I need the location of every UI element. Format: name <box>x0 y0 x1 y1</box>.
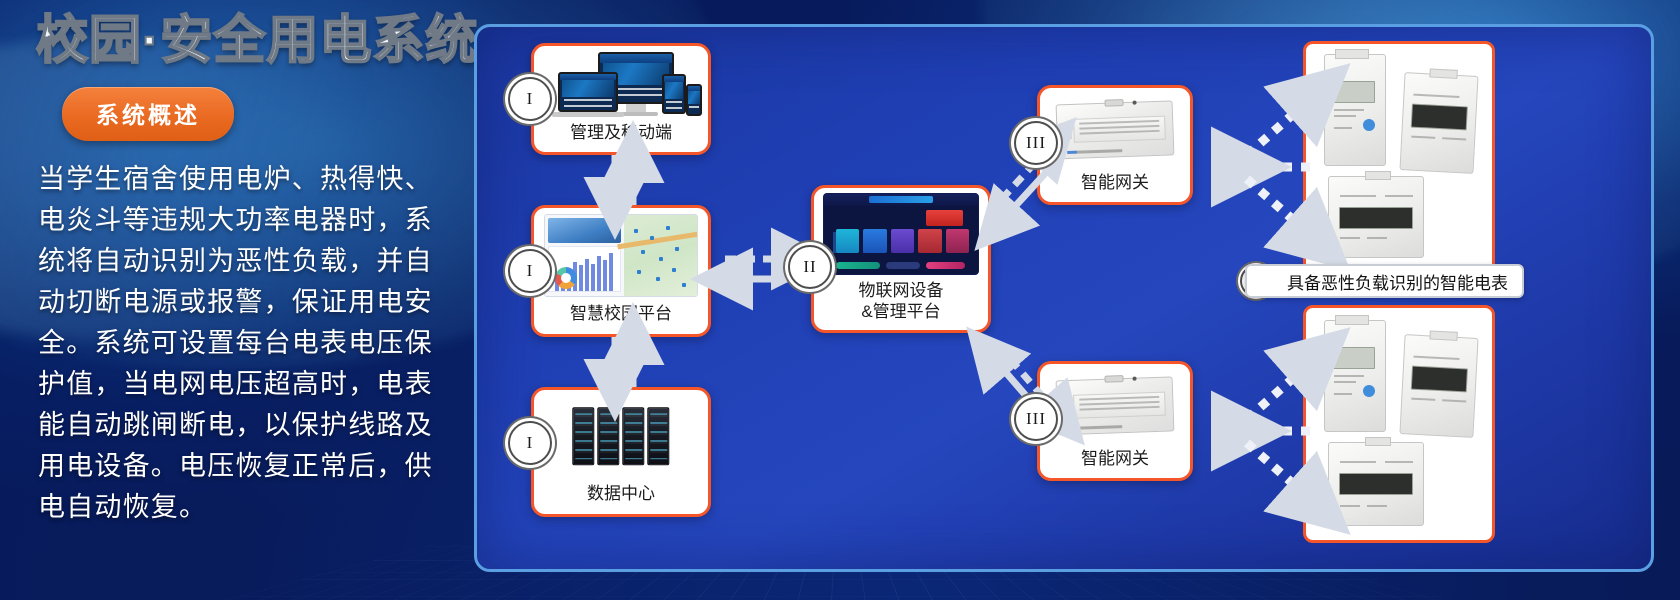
numeral-badge-iot: II <box>788 245 832 289</box>
overview-paragraph: 当学生宿舍使用电炉、热得快、电炎斗等违规大功率电器时，系统将自动识别为恶性负载，… <box>38 159 448 528</box>
numeral-badge-gateway-bottom: III <box>1014 397 1058 441</box>
arrow-campus-datacenter <box>615 337 633 387</box>
connector-arrows <box>477 27 1651 569</box>
numeral-badge-management: I <box>508 77 552 121</box>
arrow-gateway-bottom-meters <box>1247 357 1319 505</box>
arrow-management-campus <box>615 155 633 205</box>
poster-canvas: 校园·安全用电系统 系统概述 当学生宿舍使用电炉、热得快、电炎斗等违规大功率电器… <box>0 0 1680 600</box>
page-title: 校园·安全用电系统 <box>36 14 456 69</box>
numeral-badge-campus: I <box>508 249 552 293</box>
numeral-badge-datacenter: I <box>508 421 552 465</box>
callout-label: 具备恶性负载识别的智能电表 <box>1287 269 1508 294</box>
section-badge: 系统概述 <box>62 87 234 141</box>
numeral-badge-gateway-top: III <box>1014 121 1058 165</box>
architecture-diagram-panel: 管理及移动端 I <box>474 24 1654 572</box>
left-text-column: 校园·安全用电系统 系统概述 当学生宿舍使用电炉、热得快、电炎斗等违规大功率电器… <box>26 14 456 586</box>
arrow-gateway-top-meters <box>1247 93 1319 241</box>
callout-smart-meter[interactable]: 具备恶性负载识别的智能电表 <box>1245 264 1524 298</box>
